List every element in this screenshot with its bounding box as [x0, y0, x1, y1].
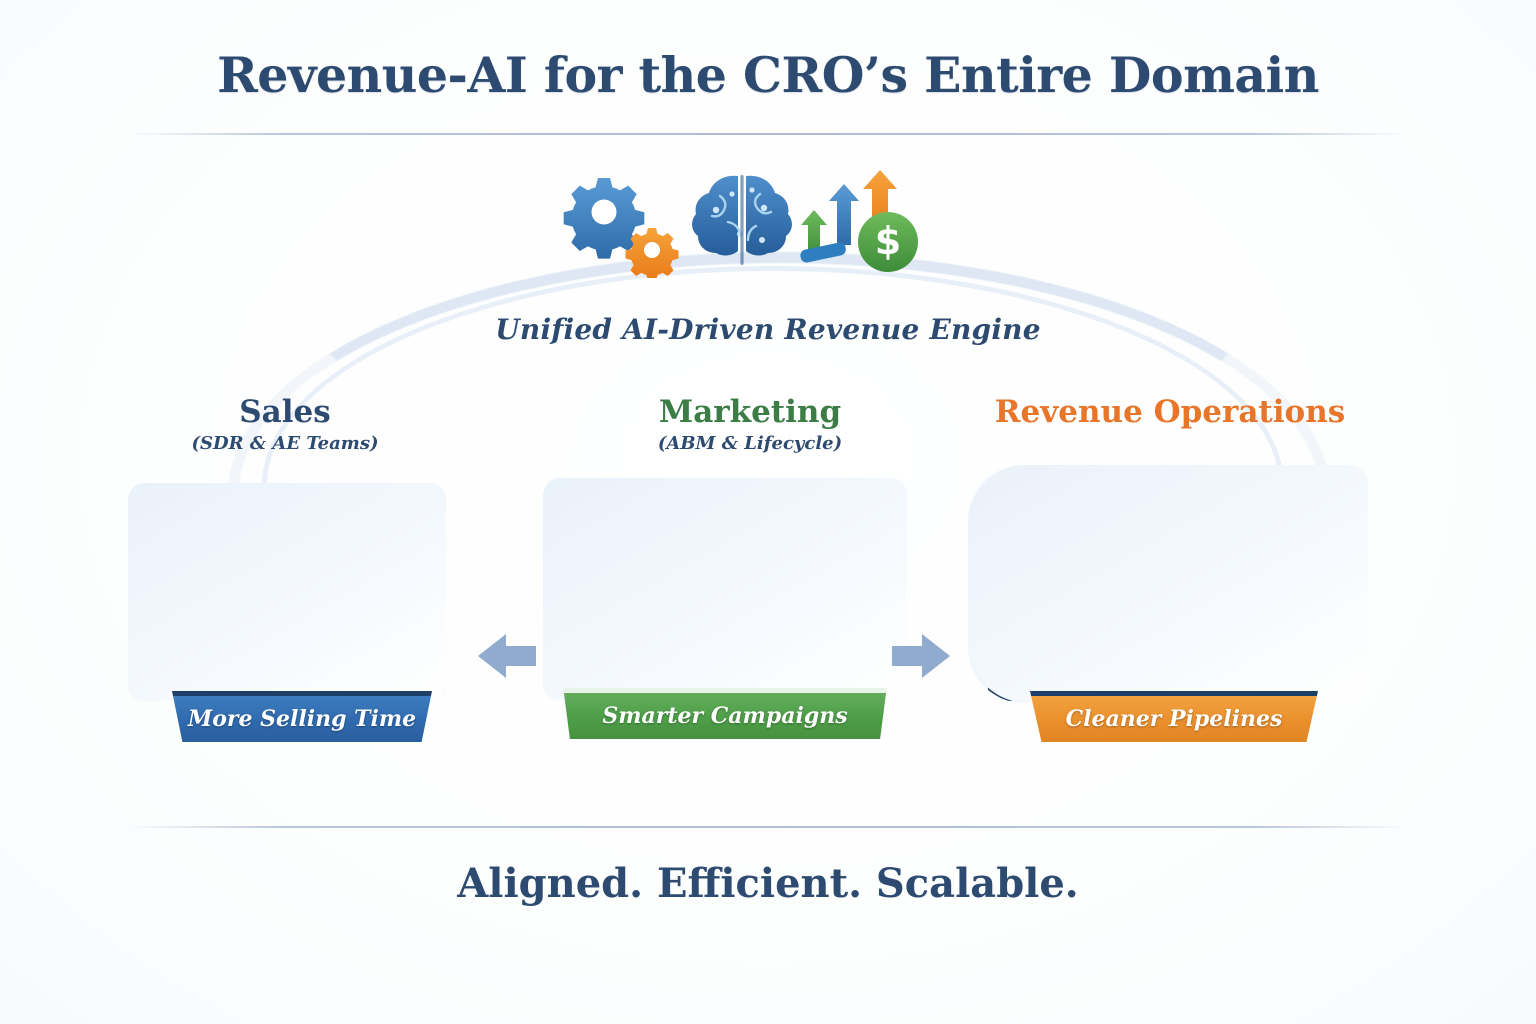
- column-subtitle-sales: (SDR & AE Teams): [70, 433, 500, 457]
- column-subtitle-revops: [955, 433, 1385, 457]
- growth-arrow-blue-icon: [829, 184, 859, 245]
- gear-blue-icon: [564, 178, 645, 259]
- engine-label: Unified AI-Driven Revenue Engine: [0, 313, 1536, 346]
- gear-orange-icon: [626, 228, 679, 278]
- column-marketing: Marketing (ABM & Lifecycle): [535, 396, 965, 457]
- infographic-canvas: Revenue-AI for the CRO’s Entire Domain: [0, 0, 1536, 1024]
- flow-arrow-right-icon: [888, 628, 958, 684]
- footer-tagline: Aligned. Efficient. Scalable.: [0, 860, 1536, 907]
- hero-icon-cluster: $: [556, 168, 936, 278]
- banner-cleaner-pipelines: Cleaner Pipelines: [1030, 691, 1318, 742]
- trend-base-bar-icon: [799, 241, 847, 263]
- column-title-marketing: Marketing: [535, 396, 965, 429]
- column-title-revops: Revenue Operations: [955, 396, 1385, 429]
- column-sales: Sales (SDR & AE Teams): [70, 396, 500, 457]
- ai-brain-icon: [692, 175, 792, 265]
- page-title: Revenue-AI for the CRO’s Entire Domain: [0, 46, 1536, 104]
- scene-revops: [968, 465, 1368, 703]
- scene-sales: [128, 483, 446, 701]
- banner-more-selling-time: More Selling Time: [172, 691, 432, 742]
- scene-marketing: [543, 478, 907, 700]
- column-subtitle-marketing: (ABM & Lifecycle): [535, 433, 965, 457]
- flow-arrow-left-icon: [470, 628, 540, 684]
- banner-smarter-campaigns: Smarter Campaigns: [560, 688, 890, 739]
- svg-text:$: $: [875, 219, 901, 263]
- scene-marketing-background: [543, 478, 907, 700]
- column-title-sales: Sales: [70, 396, 500, 429]
- divider-bottom: [128, 826, 1408, 828]
- scene-revops-background: [968, 465, 1368, 703]
- column-revops: Revenue Operations: [955, 396, 1385, 457]
- dollar-circle-icon: $: [858, 212, 918, 272]
- divider-top: [128, 133, 1408, 135]
- scene-sales-background: [128, 483, 446, 701]
